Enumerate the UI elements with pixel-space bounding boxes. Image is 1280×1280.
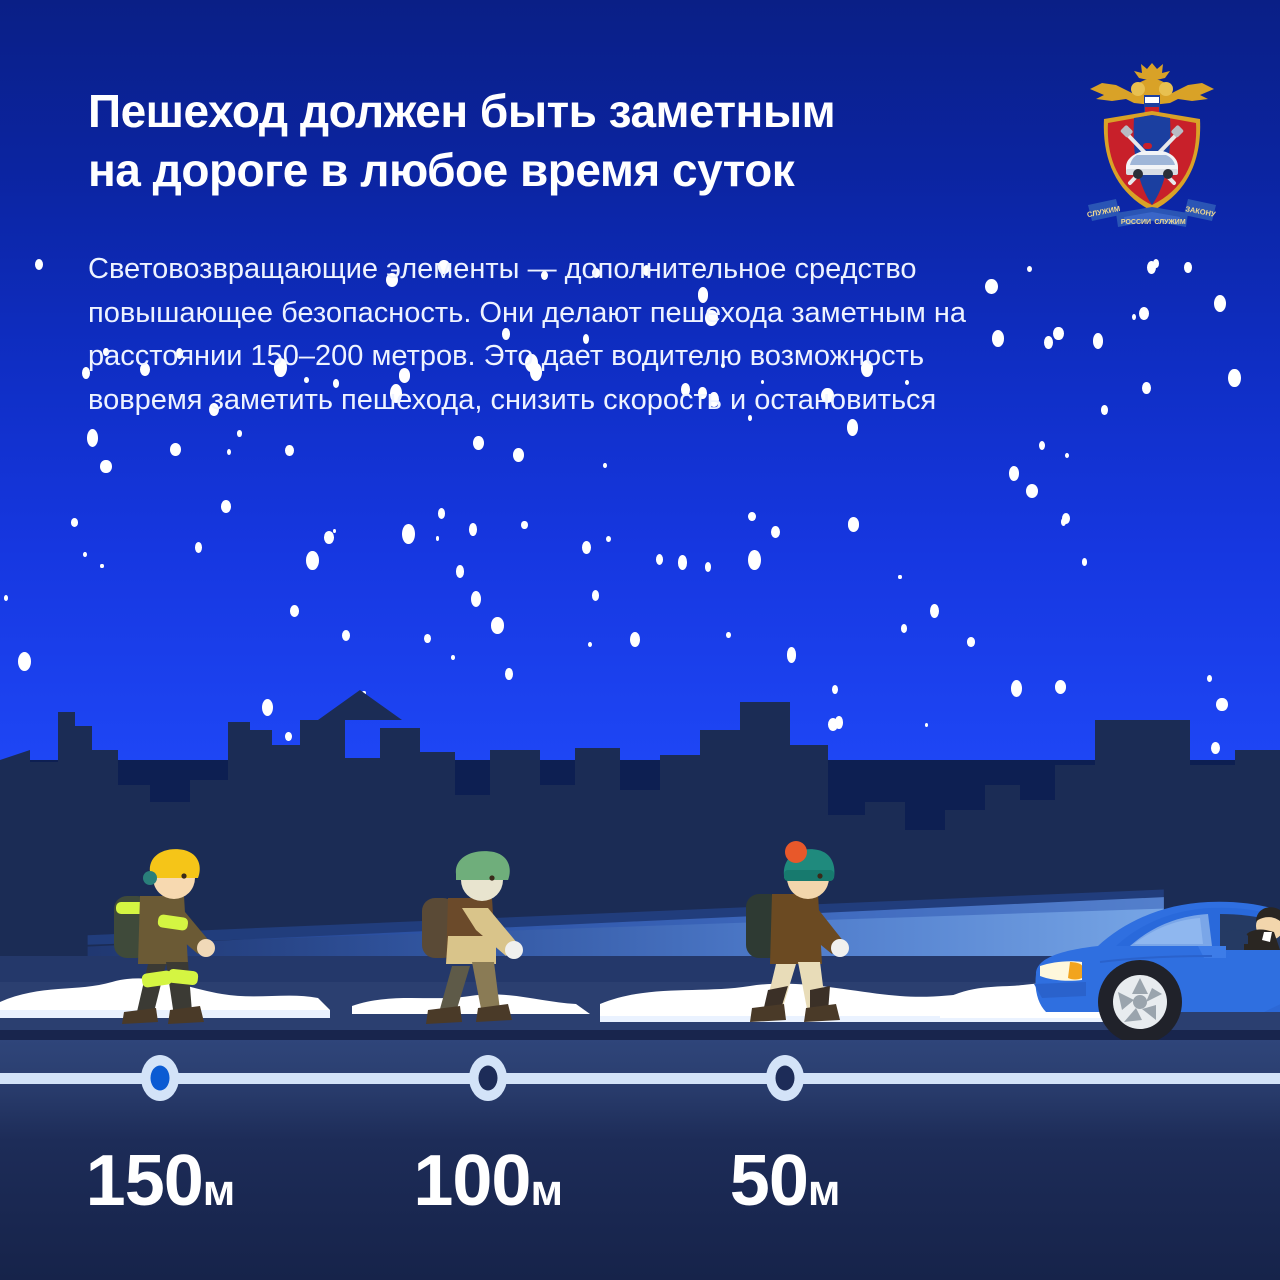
snowflake	[18, 652, 31, 671]
snowflake	[630, 632, 640, 647]
snowflake	[491, 617, 504, 633]
snowflake	[438, 508, 446, 520]
snowflake	[898, 575, 902, 580]
snowflake	[1082, 558, 1087, 566]
snowflake	[1101, 405, 1108, 415]
scale-marker-center	[478, 1066, 497, 1091]
snowflake	[100, 460, 112, 474]
snowflake	[1044, 336, 1053, 349]
snowflake	[1065, 453, 1069, 458]
pedestrian-100m	[404, 848, 604, 1053]
snowflake	[227, 449, 231, 455]
scale-marker-150м[interactable]	[141, 1055, 179, 1101]
double-headed-eagle-icon	[1090, 63, 1214, 119]
snowflake	[170, 443, 181, 456]
snowflake	[901, 624, 908, 633]
snowflake	[1184, 262, 1191, 273]
snowflake	[656, 554, 663, 565]
snowflake	[787, 647, 797, 663]
snowflake	[1062, 513, 1070, 524]
distance-label-150м: 150м	[86, 1140, 235, 1222]
distance-unit: м	[808, 1166, 840, 1215]
snowflake	[705, 562, 711, 572]
snowflake	[290, 605, 300, 617]
snowflake	[606, 536, 611, 542]
distance-unit: м	[203, 1166, 235, 1215]
snowflake	[603, 463, 607, 468]
snowflake	[748, 512, 756, 521]
distance-value: 50	[730, 1141, 808, 1221]
car	[1012, 862, 1280, 1062]
title-line-2: на дороге в любое время суток	[88, 141, 1048, 200]
snowflake	[100, 564, 103, 568]
snowflake	[469, 523, 477, 536]
ribbon-text-center-bottom: СЛУЖИМ	[1154, 219, 1186, 226]
snowflake	[1026, 484, 1038, 498]
snowflake	[848, 517, 859, 532]
gibdd-emblem-graphic: СЛУЖИМ ЗАКОНУ РОССИИ СЛУЖИМ	[1082, 55, 1222, 235]
snowflake	[1027, 266, 1032, 272]
snowflake	[678, 555, 688, 570]
snowflake	[505, 668, 513, 681]
title-line-1: Пешеход должен быть заметным	[88, 82, 1048, 141]
snowflake	[306, 551, 319, 570]
snowflake	[592, 590, 600, 601]
ribbon-text-center-top: РОССИИ	[1121, 219, 1151, 226]
distance-value: 150	[86, 1141, 203, 1221]
emblem-shield	[1104, 111, 1200, 211]
snowflake	[333, 529, 336, 534]
snowflake	[1139, 307, 1149, 320]
page-title: Пешеход должен быть заметным на дороге в…	[88, 82, 1048, 200]
snowflake	[1093, 333, 1103, 349]
snowflake	[1132, 314, 1136, 321]
scale-line	[0, 1073, 1280, 1084]
snowflake	[513, 448, 524, 463]
snowflake	[35, 259, 43, 270]
snowflake	[1214, 295, 1226, 312]
gibdd-emblem: СЛУЖИМ ЗАКОНУ РОССИИ СЛУЖИМ	[1082, 55, 1222, 235]
snowflake	[582, 541, 591, 554]
distance-value: 100	[413, 1141, 530, 1221]
snowflake	[4, 595, 8, 601]
snowflake	[521, 521, 528, 529]
distance-label-100м: 100м	[413, 1140, 562, 1222]
scale-marker-50м[interactable]	[766, 1055, 804, 1101]
snowflake	[71, 518, 78, 527]
snowflake	[1142, 382, 1151, 394]
snowflake	[285, 445, 293, 456]
snowflake	[1039, 441, 1045, 450]
scale-marker-center	[151, 1066, 170, 1091]
snowflake	[83, 552, 87, 557]
snowflake	[1053, 327, 1064, 341]
snowflake	[436, 536, 439, 541]
snowflake	[1009, 466, 1019, 481]
pompom	[785, 841, 807, 863]
scale-marker-center	[775, 1066, 794, 1091]
snowflake	[471, 591, 481, 608]
snowflake	[473, 436, 484, 450]
snowflake	[195, 542, 202, 553]
snowflake	[342, 630, 350, 641]
snowflake	[967, 637, 975, 646]
snowflake	[424, 634, 431, 643]
pedestrian-50m	[724, 840, 929, 1055]
poster-root: 150м100м50м Пешеход должен быть заметным…	[0, 0, 1280, 1280]
snowflake	[726, 632, 731, 639]
distance-label-50м: 50м	[730, 1140, 840, 1222]
snowflake	[87, 429, 98, 447]
snowflake	[451, 655, 455, 660]
pedestrian-150m	[88, 844, 298, 1054]
snowflake	[748, 550, 761, 571]
snowflake	[324, 531, 334, 543]
snowflake	[930, 604, 939, 618]
snowflake	[1207, 675, 1212, 682]
snowflake	[1153, 259, 1159, 268]
snowflake	[237, 430, 243, 437]
scale-marker-100м[interactable]	[469, 1055, 507, 1101]
body-paragraph: Световозвращающие элементы — дополнитель…	[88, 248, 1008, 422]
distance-unit: м	[530, 1166, 562, 1215]
snowflake	[771, 526, 780, 538]
snowflake	[1228, 369, 1240, 387]
snowflake	[402, 524, 415, 544]
snowflake	[221, 500, 231, 513]
snowflake	[456, 565, 465, 578]
snowflake	[588, 642, 592, 647]
